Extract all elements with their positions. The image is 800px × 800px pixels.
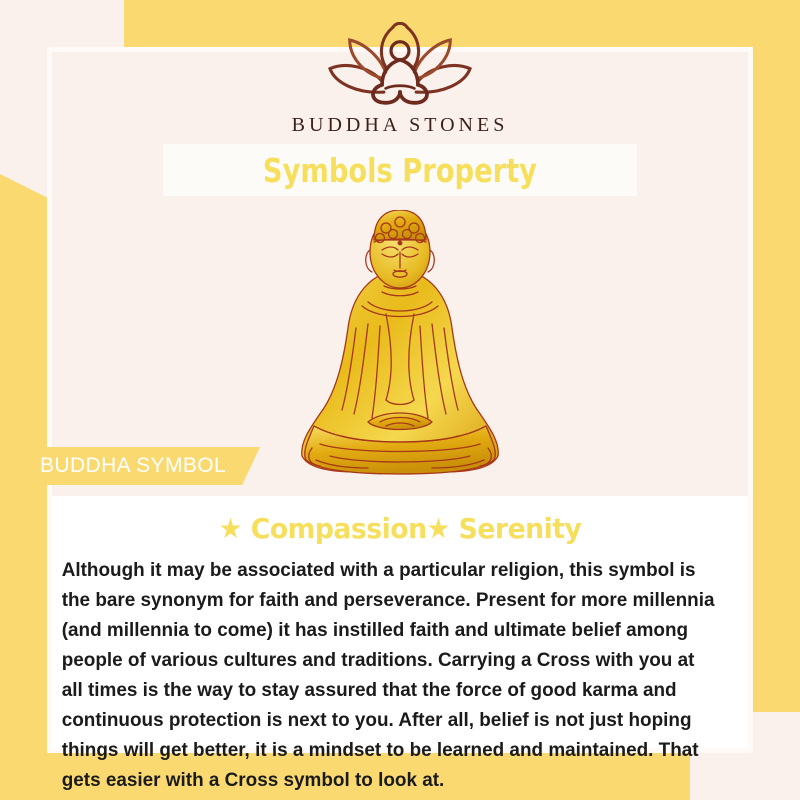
page-title: Symbols Property: [263, 151, 537, 190]
title-band: Symbols Property: [163, 144, 637, 196]
lotus-meditation-figure-icon: [310, 22, 490, 110]
golden-seated-buddha-illustration: [290, 210, 510, 495]
ribbon-label: BUDDHA SYMBOL: [40, 454, 226, 478]
brand-logo: BUDDHA STONES: [0, 22, 800, 137]
content-headline: ★ Compassion★ Serenity: [69, 496, 730, 545]
brand-wordmark: BUDDHA STONES: [0, 114, 800, 137]
content-paragraph: Although it may be associated with a par…: [52, 555, 727, 795]
poster-canvas: BUDDHA STONES Symbols Property: [0, 0, 800, 800]
buddha-symbol-ribbon: BUDDHA SYMBOL: [18, 447, 260, 485]
content-panel: ★ Compassion★ Serenity Although it may b…: [52, 496, 748, 748]
